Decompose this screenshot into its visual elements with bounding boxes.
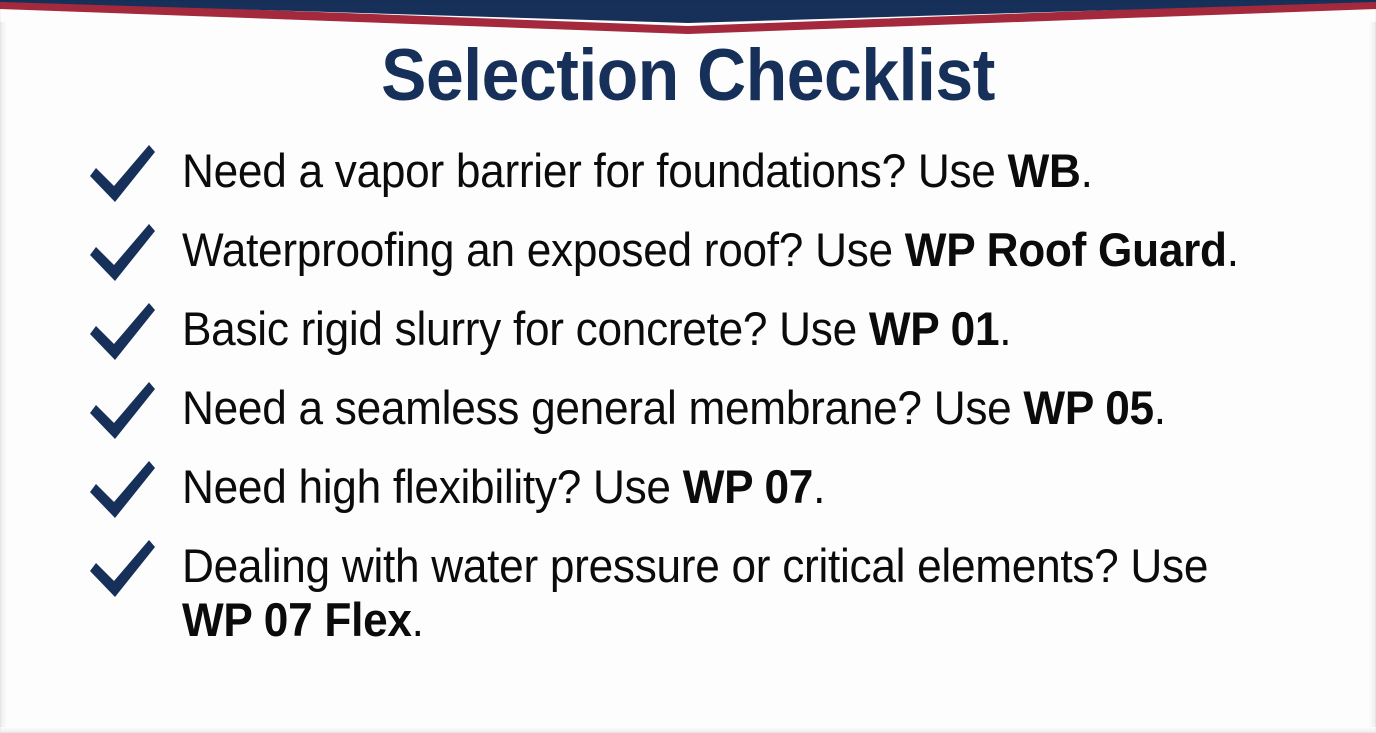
list-item-prefix: Need a seamless general membrane? Use (182, 381, 1023, 434)
list-item-product: WP 07 (683, 460, 813, 513)
list-item-suffix: . (999, 302, 1011, 355)
check-icon (86, 380, 158, 448)
list-item-product: WP 07 Flex (182, 593, 412, 646)
list-item: Need a vapor barrier for foundations? Us… (86, 141, 1336, 209)
list-item-text: Waterproofing an exposed roof? Use WP Ro… (182, 220, 1267, 277)
check-icon-shape (86, 459, 158, 527)
banner-navy-shape (0, 0, 1376, 23)
list-item-prefix: Waterproofing an exposed roof? Use (182, 223, 905, 276)
check-icon (86, 222, 158, 290)
list-item: Dealing with water pressure or critical … (86, 536, 1336, 647)
check-icon-shape (86, 301, 158, 369)
list-item-suffix: . (1227, 223, 1239, 276)
list-item-text: Need high flexibility? Use WP 07. (182, 457, 1267, 514)
slide-canvas: Selection Checklist Need a vapor barrier… (0, 0, 1376, 733)
chevron-banner-icon (0, 0, 1376, 34)
banner-red-shape (0, 0, 1376, 34)
chevron-banner-shape (0, 0, 1376, 34)
check-icon (86, 538, 158, 606)
list-item: Waterproofing an exposed roof? Use WP Ro… (86, 220, 1336, 288)
list-item-suffix: . (813, 460, 825, 513)
page-edge-left (0, 22, 7, 733)
list-item-prefix: Basic rigid slurry for concrete? Use (182, 302, 869, 355)
list-item-product: WP 05 (1023, 381, 1153, 434)
list-item-text: Need a seamless general membrane? Use WP… (182, 378, 1267, 435)
check-icon (86, 301, 158, 369)
page-edge-bottom (0, 727, 1376, 733)
check-icon-shape (86, 380, 158, 448)
list-item-prefix: Dealing with water pressure or critical … (182, 539, 1208, 592)
list-item: Basic rigid slurry for concrete? Use WP … (86, 299, 1336, 367)
list-item-text: Dealing with water pressure or critical … (182, 536, 1267, 647)
check-icon-shape (86, 222, 158, 290)
check-icon (86, 459, 158, 527)
list-item-prefix: Need a vapor barrier for foundations? Us… (182, 144, 1008, 197)
list-item-product: WP 01 (869, 302, 999, 355)
list-item-text: Basic rigid slurry for concrete? Use WP … (182, 299, 1267, 356)
list-item-suffix: . (412, 593, 424, 646)
list-item-text: Need a vapor barrier for foundations? Us… (182, 141, 1267, 198)
list-item-product: WP Roof Guard (905, 223, 1227, 276)
list-item-product: WB (1008, 144, 1081, 197)
list-item-suffix: . (1154, 381, 1166, 434)
list-item: Need a seamless general membrane? Use WP… (86, 378, 1336, 446)
list-item-prefix: Need high flexibility? Use (182, 460, 683, 513)
check-icon-shape (86, 538, 158, 606)
page-edge-right (1369, 22, 1376, 733)
check-icon-shape (86, 143, 158, 211)
page-title: Selection Checklist (48, 33, 1328, 119)
list-item-suffix: . (1081, 144, 1093, 197)
check-icon (86, 143, 158, 211)
checklist: Need a vapor barrier for foundations? Us… (86, 141, 1336, 647)
list-item: Need high flexibility? Use WP 07. (86, 457, 1336, 525)
